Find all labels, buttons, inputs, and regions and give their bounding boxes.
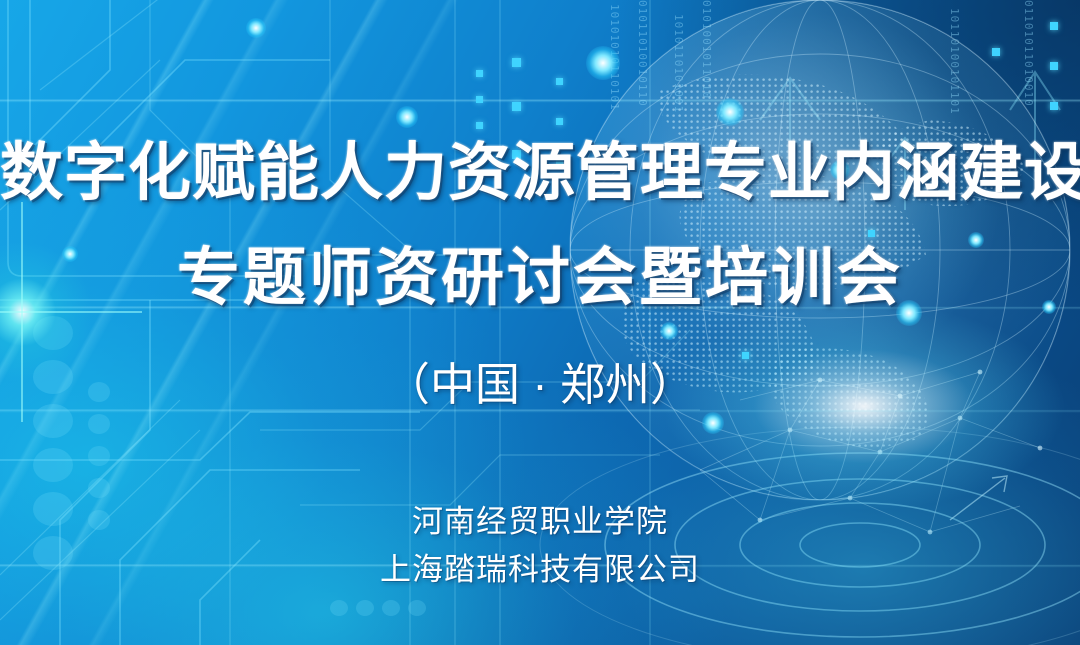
conference-banner: 10101010110101 01011010010110 1010110101… xyxy=(0,0,1080,645)
page-title-line-1: 数字化赋能人力资源管理专业内涵建设 xyxy=(0,122,1080,213)
organizer-line-2: 上海踏瑞科技有限公司 xyxy=(0,544,1080,589)
organizer-line-1: 河南经贸职业学院 xyxy=(0,496,1080,541)
page-title-line-2: 专题师资研讨会暨培训会 xyxy=(0,227,1080,318)
location-subtitle: （中国 · 郑州） xyxy=(0,348,1080,413)
banner-content: 数字化赋能人力资源管理专业内涵建设 专题师资研讨会暨培训会 （中国 · 郑州） … xyxy=(0,0,1080,645)
